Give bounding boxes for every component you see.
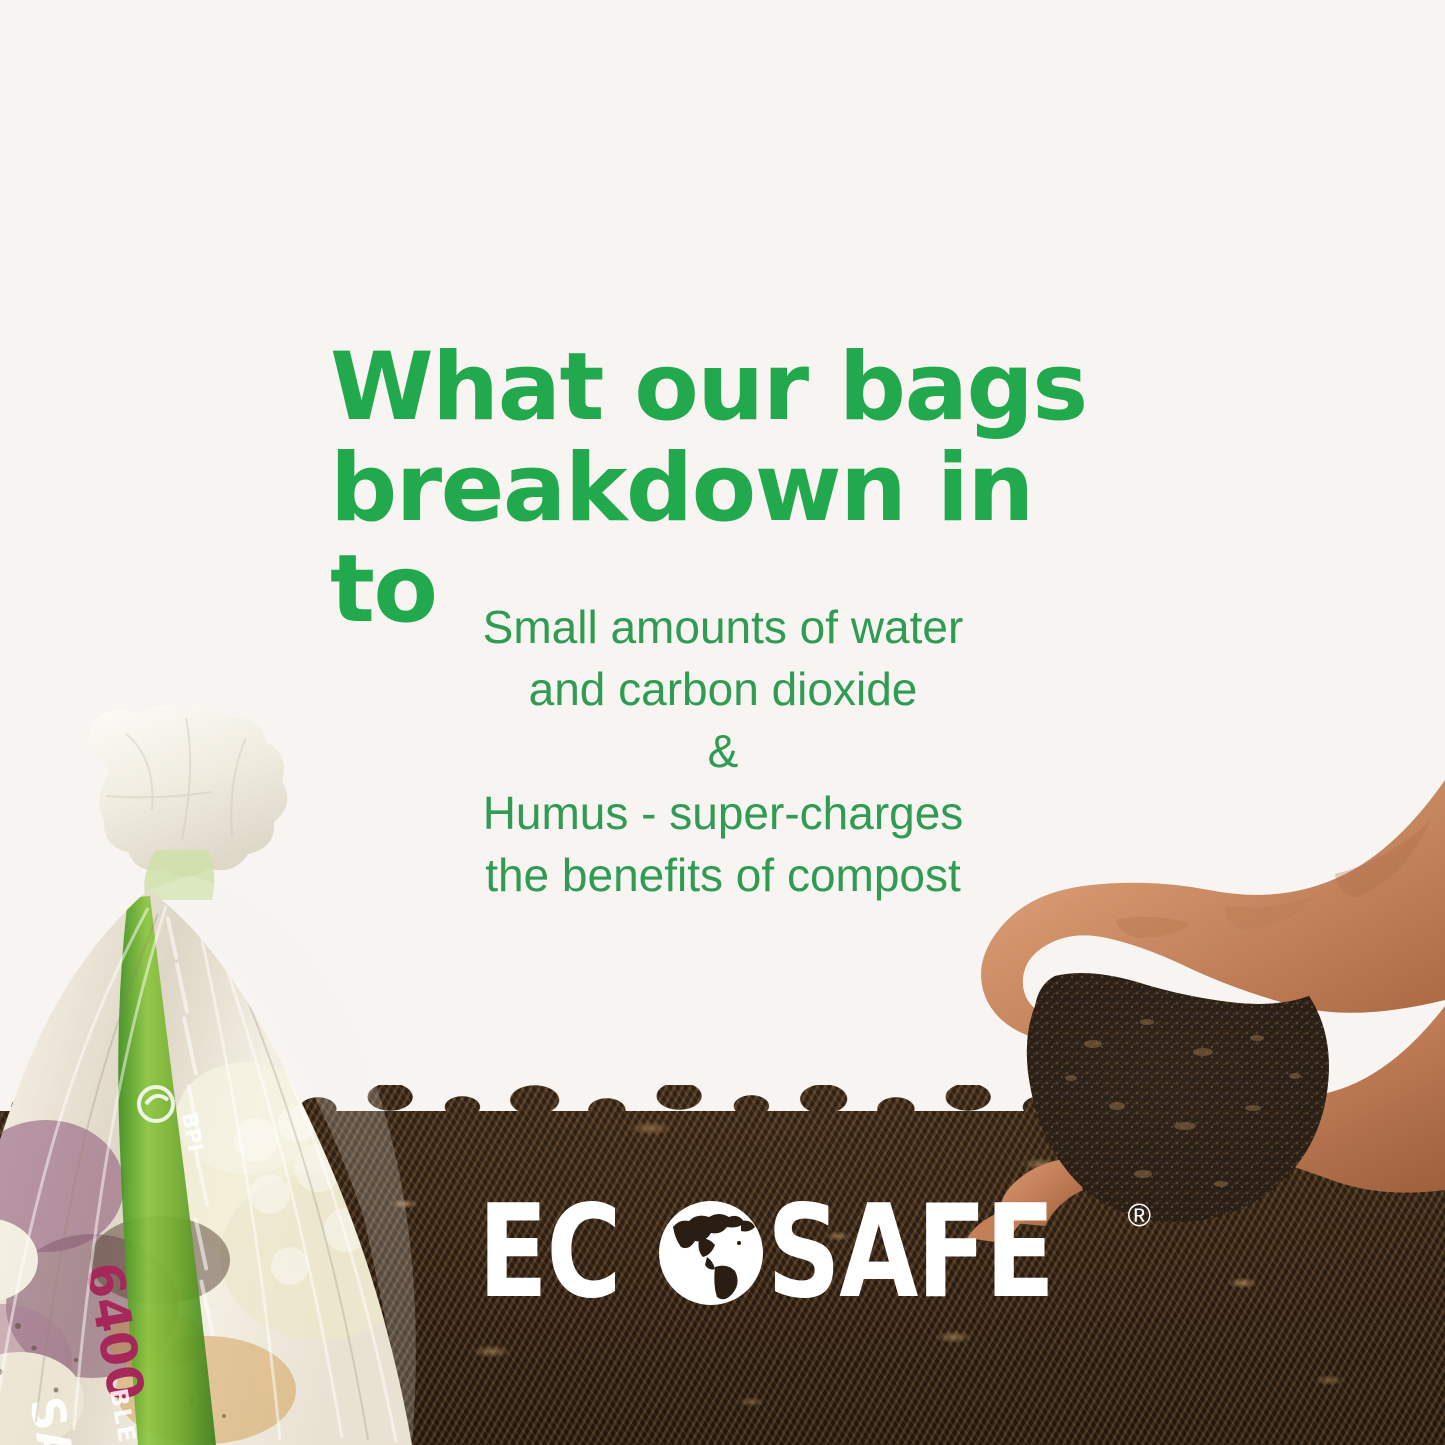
page-title: What our bags breakdown in to: [330, 337, 1150, 640]
svg-text:SAFE: SAFE: [19, 1393, 95, 1445]
logo-word-left: EC: [478, 1197, 620, 1309]
svg-text:BLE BAGS: BLE BAGS: [104, 1386, 157, 1445]
body-copy: Small amounts of water and carbon dioxid…: [413, 596, 1033, 906]
ecosafe-logo: EC: [478, 1197, 1151, 1309]
globe-americas-icon: [653, 1197, 769, 1309]
logo-word-right: SAFE: [767, 1197, 1054, 1309]
registered-trademark-icon: ®: [1128, 1199, 1152, 1231]
svg-text:6400: 6400: [74, 1258, 155, 1405]
svg-text:BPI: BPI: [177, 1111, 207, 1154]
ecosafe-compost-poster: BPI 6400 SAFE BLE BAGS: [0, 0, 1445, 1445]
